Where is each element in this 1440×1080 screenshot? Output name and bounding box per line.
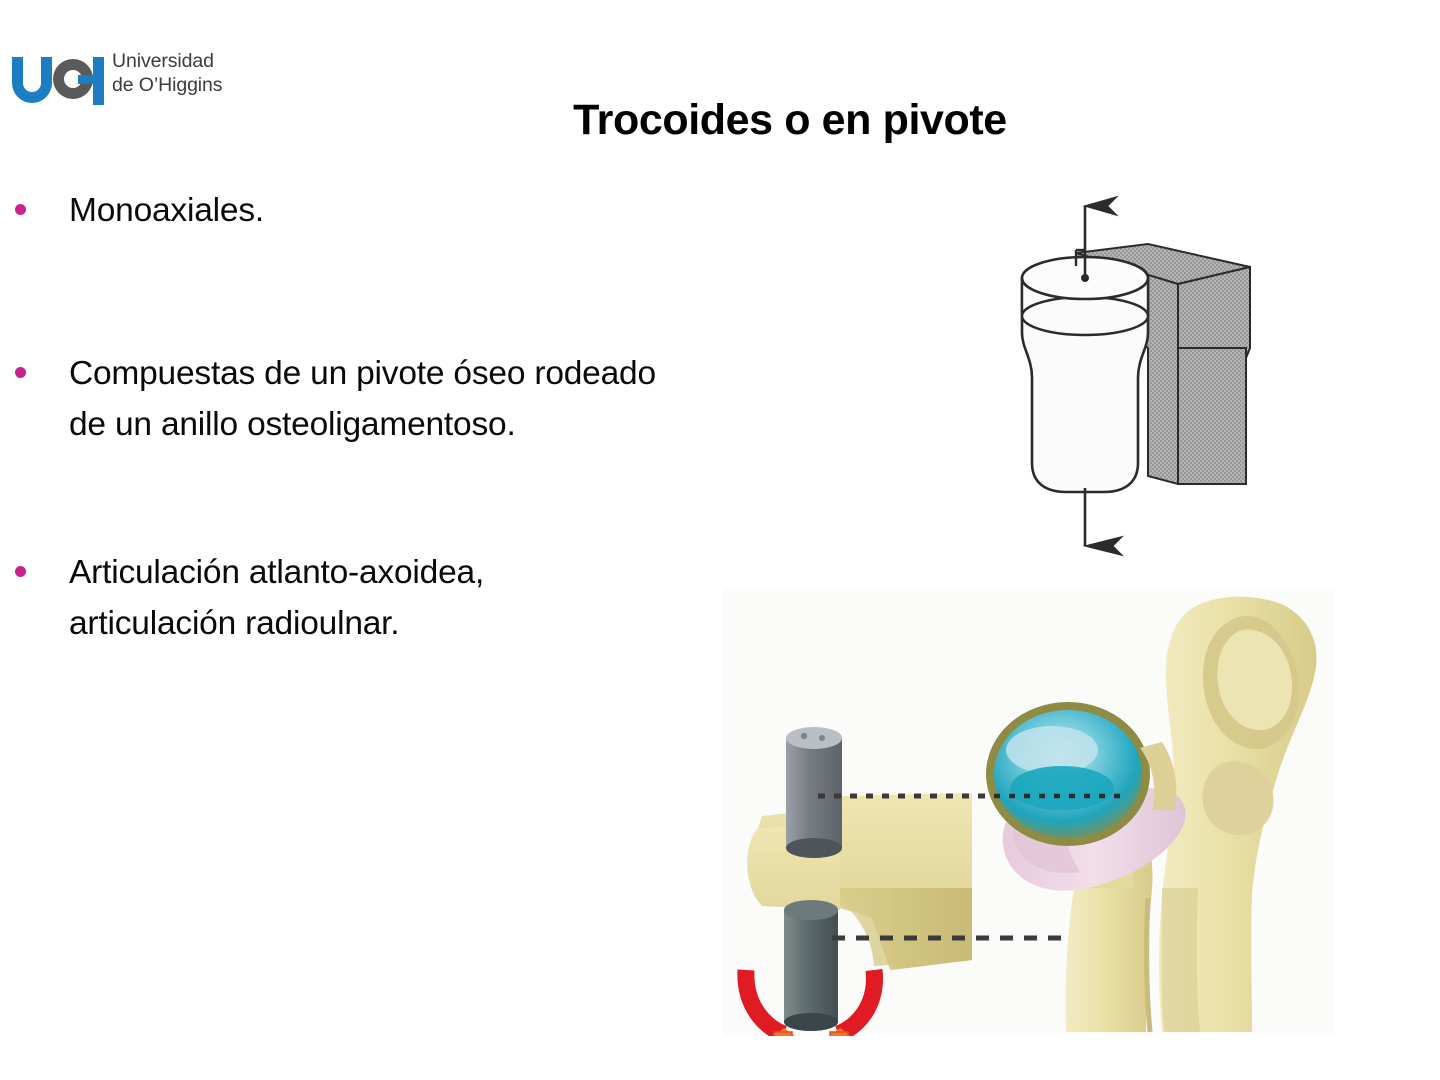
bullet-list: Monoaxiales. Compuestas de un pivote óse… xyxy=(0,186,800,650)
universidad-de-ohiggins-logo: Universidad de O’Higgins xyxy=(8,48,268,110)
pivot-joint-line-diagram xyxy=(988,188,1288,580)
logo-wordmark: Universidad de O’Higgins xyxy=(112,50,262,98)
radioulnar-joint-anatomy-image xyxy=(722,588,1335,1036)
bullet-item-pivote-oseo: Compuestas de un pivote óseo rodeado de … xyxy=(0,349,800,451)
bullet-item-ejemplos: Articulación atlanto-axoidea, articulaci… xyxy=(0,548,800,650)
bullet-text: Compuestas de un pivote óseo rodeado de … xyxy=(69,349,656,451)
bullet-dot-icon xyxy=(15,367,26,378)
bullet-text: Monoaxiales. xyxy=(69,186,264,237)
uoh-logo-mark-icon xyxy=(8,51,104,107)
bullet-dot-icon xyxy=(15,204,26,215)
logo-wordmark-line2: de O’Higgins xyxy=(112,74,262,98)
slide-canvas: Universidad de O’Higgins Trocoides o en … xyxy=(0,0,1440,1080)
bullet-text: Articulación atlanto-axoidea, articulaci… xyxy=(69,548,484,650)
slide-title: Trocoides o en pivote xyxy=(300,96,1280,145)
bullet-item-monoaxiales: Monoaxiales. xyxy=(0,186,800,237)
bullet-dot-icon xyxy=(15,566,26,577)
logo-wordmark-line1: Universidad xyxy=(112,50,262,74)
